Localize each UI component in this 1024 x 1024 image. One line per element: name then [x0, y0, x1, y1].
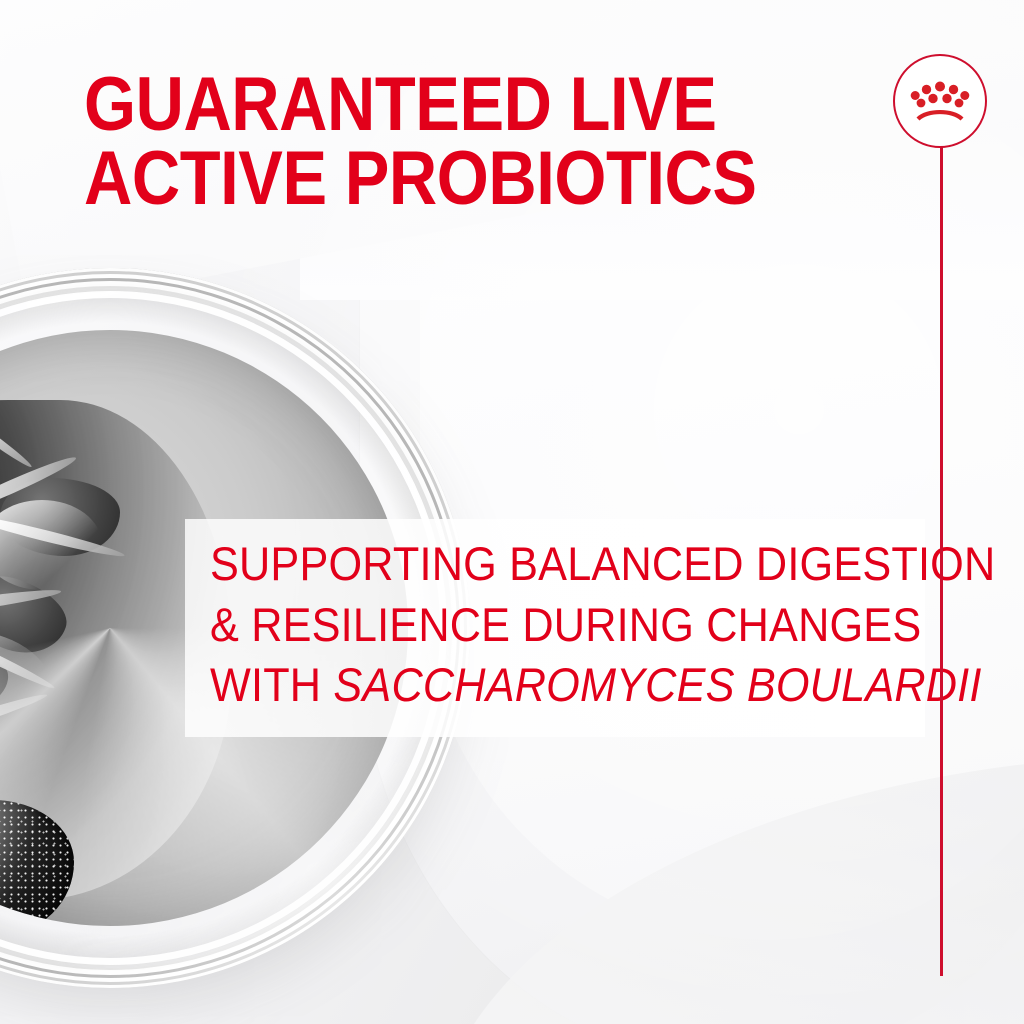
subhead-line-2: & RESILIENCE DURING CHANGES	[210, 595, 909, 656]
subhead-line-3-prefix: WITH	[210, 658, 333, 711]
subhead-text: SUPPORTING BALANCED DIGESTION & RESILIEN…	[210, 534, 909, 716]
page-title: GUARANTEED LIVE ACTIVE PROBIOTICS	[84, 68, 806, 217]
subhead-line-1: SUPPORTING BALANCED DIGESTION	[210, 534, 909, 595]
royal-canin-crown-icon	[910, 79, 970, 123]
brand-logo	[893, 54, 987, 148]
logo-connector-line	[940, 146, 943, 976]
promo-banner: GUARANTEED LIVE ACTIVE PROBIOTICS SUPPOR…	[0, 0, 1024, 1024]
subhead-line-3: WITH SACCHAROMYCES BOULARDII	[210, 655, 909, 716]
probiotic-strain-name: SACCHAROMYCES BOULARDII	[333, 658, 981, 711]
